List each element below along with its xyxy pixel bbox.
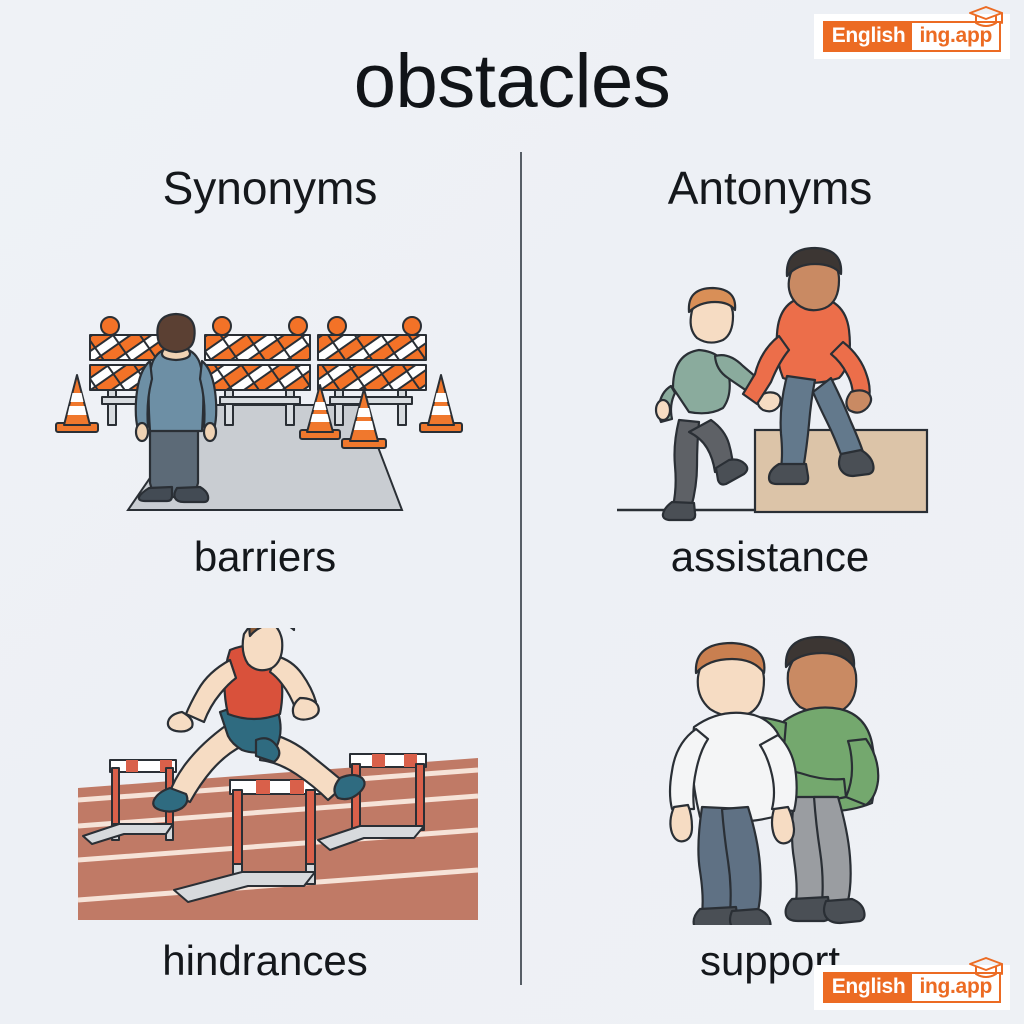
vocabulary-card-page: obstacles Synonyms Antonyms <box>0 0 1024 1024</box>
column-divider <box>520 152 522 985</box>
caption-barriers: barriers <box>40 536 490 578</box>
illustration-man-facing-road-barricades <box>50 245 480 520</box>
brand-logo-bottom[interactable]: English ing.app <box>814 965 1010 1010</box>
caption-hindrances: hindrances <box>30 940 500 982</box>
caption-assistance: assistance <box>545 536 995 578</box>
column-heading-antonyms: Antonyms <box>560 165 980 211</box>
brand-logo-top[interactable]: English ing.app <box>814 14 1010 59</box>
logo-text-english: English <box>825 23 913 50</box>
column-heading-synonyms: Synonyms <box>60 165 480 211</box>
graduation-cap-icon <box>967 4 1005 35</box>
illustration-person-helping-other-climb-ledge <box>615 238 940 528</box>
logo-text-english: English <box>825 974 913 1001</box>
illustration-athlete-jumping-hurdles <box>78 628 478 920</box>
graduation-cap-icon <box>967 955 1005 986</box>
illustration-two-people-walking-arm-around-shoulder <box>660 615 950 925</box>
